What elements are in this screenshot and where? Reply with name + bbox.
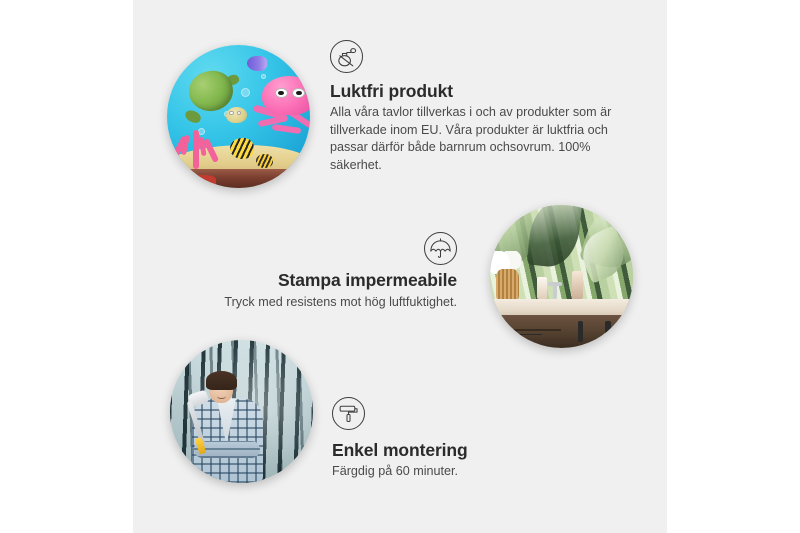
vase-icon bbox=[496, 269, 519, 300]
paint-roller-icon bbox=[332, 397, 365, 430]
underwater-kids-scene-circle-image bbox=[167, 45, 310, 188]
coral-icon bbox=[173, 127, 222, 170]
bathroom-tropical-wallpaper-circle-image bbox=[490, 205, 633, 348]
no-odor-spray-bottle-icon bbox=[330, 40, 363, 73]
purple-fish-icon bbox=[247, 56, 267, 70]
umbrella-waterproof-icon bbox=[424, 232, 457, 265]
faucet-icon bbox=[553, 282, 557, 299]
octopus-icon bbox=[250, 76, 310, 139]
bottle-icon bbox=[537, 277, 547, 300]
bottle-icon bbox=[572, 271, 583, 300]
foreground-strip bbox=[167, 169, 310, 188]
vanity-cabinet bbox=[493, 315, 630, 348]
feature-panel: Luktfri produkt Alla våra tavlor tillver… bbox=[133, 0, 667, 533]
feature-title: Enkel montering bbox=[332, 440, 468, 461]
turtle-icon bbox=[184, 71, 244, 125]
yellow-fish-icon bbox=[230, 138, 254, 159]
feature-description: Tryck med resistens mot hög luftfuktighe… bbox=[156, 294, 457, 312]
woman-figure bbox=[190, 371, 264, 483]
product-feature-infographic: Luktfri produkt Alla våra tavlor tillver… bbox=[0, 0, 800, 533]
feature-description: Alla våra tavlor tillverkas i och av pro… bbox=[330, 104, 625, 174]
feature-description: Färgdig på 60 minuter. bbox=[332, 463, 562, 481]
feature-title: Luktfri produkt bbox=[330, 81, 453, 102]
woman-paint-roller-forest-circle-image bbox=[170, 340, 313, 483]
yellow-fish-small-icon bbox=[256, 154, 273, 168]
feature-title: Stampa impermeabile bbox=[166, 270, 457, 291]
